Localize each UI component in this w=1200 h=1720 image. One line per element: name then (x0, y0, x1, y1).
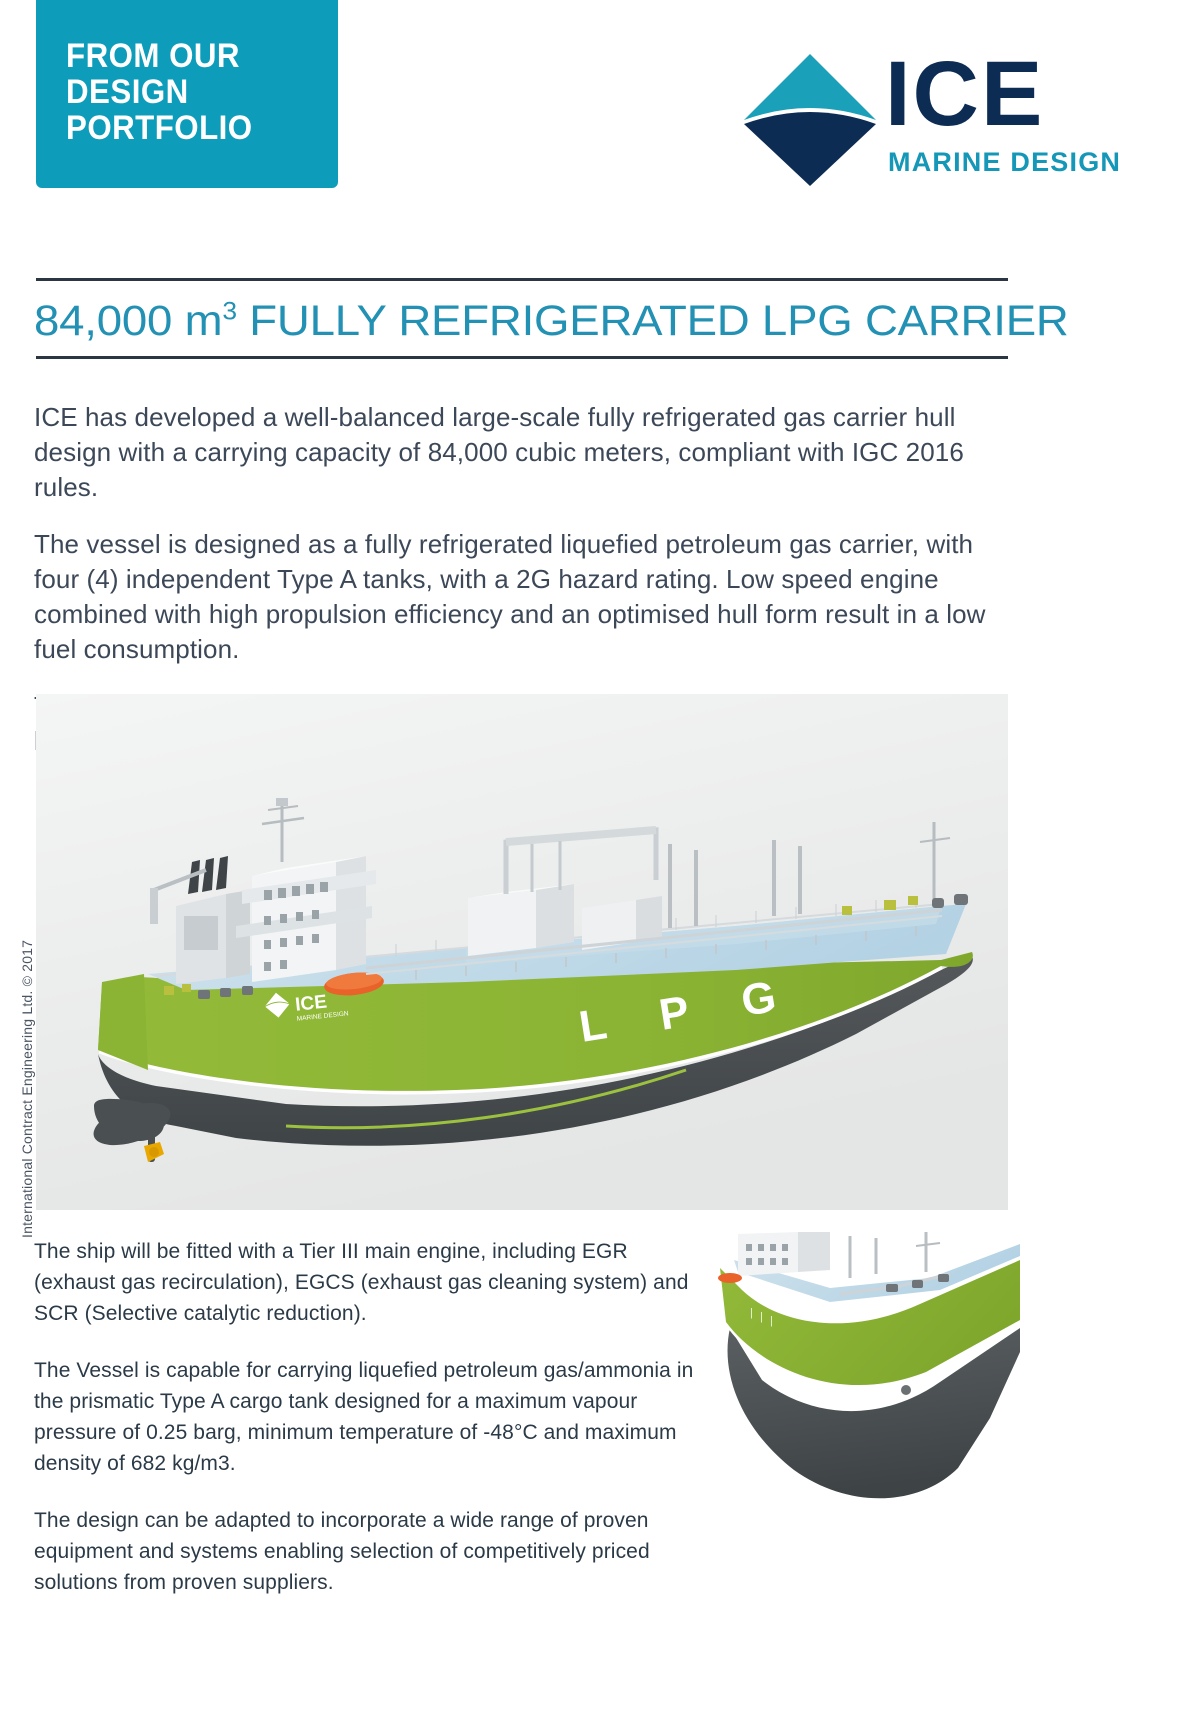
page-title-superscript: 3 (222, 298, 236, 326)
bottom-paragraph: The design can be adapted to incorporate… (34, 1505, 694, 1598)
svg-text:|: | (760, 1311, 763, 1323)
title-rule-bottom (36, 356, 1008, 359)
logo-wordmark: ICE (885, 48, 1044, 140)
page-header: FROM OUR DESIGN PORTFOLIO ICE MARINE DES… (0, 0, 1200, 230)
bottom-text-block: The ship will be fitted with a Tier III … (34, 1236, 694, 1624)
vessel-bow-image: ||| (690, 1232, 1020, 1512)
intro-paragraph: The vessel is designed as a fully refrig… (34, 527, 1019, 667)
ice-diamond-icon (740, 50, 880, 190)
svg-text:|: | (750, 1307, 753, 1319)
title-rule-top (36, 278, 1008, 281)
bottom-paragraph: The ship will be fitted with a Tier III … (34, 1236, 694, 1329)
bottom-paragraph: The Vessel is capable for carrying lique… (34, 1355, 694, 1479)
copyright-credit: International Contract Engineering Ltd. … (2, 908, 24, 1238)
intro-paragraph: ICE has developed a well-balanced large-… (34, 400, 1019, 505)
portfolio-badge: FROM OUR DESIGN PORTFOLIO (36, 0, 338, 188)
logo-tagline: MARINE DESIGN (888, 148, 1121, 176)
vessel-bow-svg: ||| (690, 1232, 1020, 1512)
brand-logo: ICE MARINE DESIGN (730, 48, 1170, 193)
page-title: 84,000 m3 FULLY REFRIGERATED LPG CARRIER (34, 292, 1069, 350)
copyright-credit-text: International Contract Engineering Ltd. … (19, 940, 35, 1238)
portfolio-badge-label: FROM OUR DESIGN PORTFOLIO (66, 38, 253, 146)
svg-text:|: | (770, 1315, 773, 1327)
vessel-rendering-image: L P G ICE MARINE DESIGN (36, 694, 1008, 1210)
vessel-rendering-svg: L P G ICE MARINE DESIGN (36, 694, 1008, 1210)
page-title-lead: 84,000 m (34, 297, 222, 345)
page-title-rest: FULLY REFRIGERATED LPG CARRIER (237, 297, 1069, 345)
